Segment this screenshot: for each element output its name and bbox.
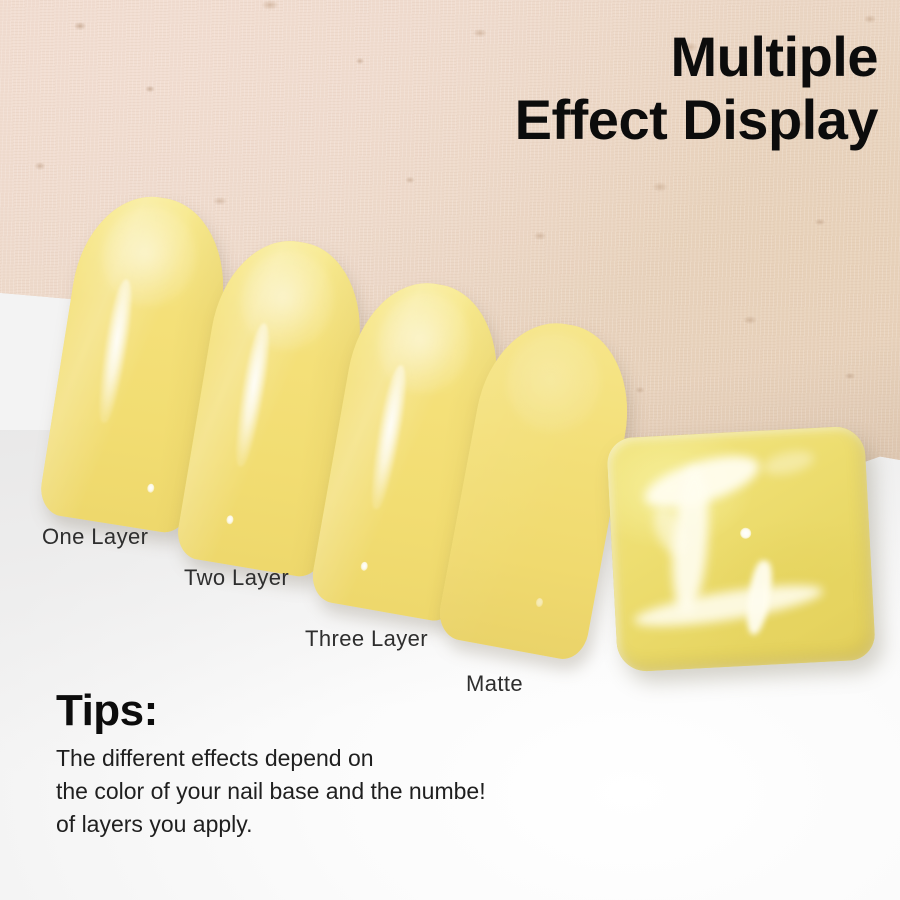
tips-line-2: the color of your nail base and the numb…: [56, 775, 486, 808]
label-three-layer: Three Layer: [305, 626, 428, 652]
label-two-layer: Two Layer: [184, 565, 289, 591]
gel-swatch: [606, 425, 876, 672]
tips-line-1: The different effects depend on: [56, 742, 486, 775]
label-one-layer: One Layer: [42, 524, 148, 550]
tips-block: Tips: The different effects depend on th…: [56, 688, 486, 840]
tips-heading: Tips:: [56, 688, 486, 734]
headline-line-2: Effect Display: [318, 89, 878, 152]
gel-rim-shading: [606, 425, 876, 672]
tips-line-3: of layers you apply.: [56, 808, 486, 841]
page-title: Multiple Effect Display: [318, 26, 878, 151]
headline-line-1: Multiple: [318, 26, 878, 89]
product-display-image: Multiple Effect Display One Layer Two La…: [0, 0, 900, 900]
tips-body: The different effects depend on the colo…: [56, 742, 486, 840]
